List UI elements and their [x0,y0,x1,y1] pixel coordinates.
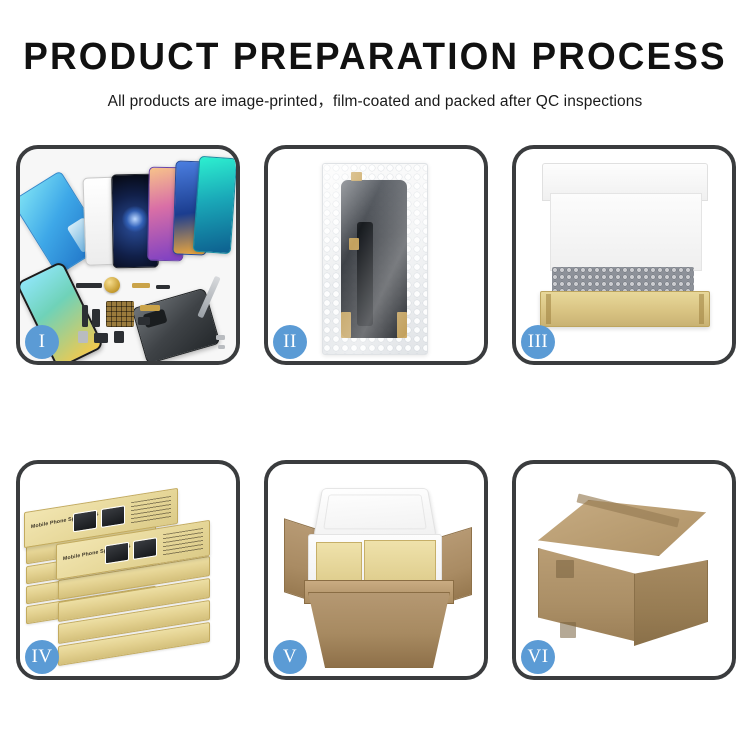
process-step-panel-3[interactable]: III [512,145,736,365]
foam-box-lid [313,488,437,538]
step-badge-3: III [521,325,555,359]
small-part-2 [132,283,150,288]
small-part-6 [140,305,160,311]
small-part-11 [216,335,225,340]
box-window-rear-1 [73,510,97,533]
small-part-8 [78,331,88,343]
process-step-panel-5[interactable]: V [264,460,488,680]
box-spec-lines-rear [131,496,171,524]
logic-board-chip [106,301,134,327]
process-step-panel-1[interactable]: I [16,145,240,365]
white-foam-sheet [550,193,702,271]
carton-side-face [634,560,708,646]
carton-body [308,592,450,668]
step-badge-6: VI [521,640,555,674]
box-window-rear-2 [101,505,125,528]
page-header: PRODUCT PREPARATION PROCESS All products… [0,0,750,111]
small-part-3 [156,285,170,289]
carton-tab-lower [560,622,576,638]
process-step-panel-2[interactable]: II [264,145,488,365]
box-window-front-1 [105,542,129,565]
small-part-1 [76,283,102,288]
step-badge-2: II [273,325,307,359]
kraft-box-tray [540,291,710,327]
small-part-4 [82,305,88,327]
process-step-panel-4[interactable]: Mobile Phone Spare Parts Mobile Phone Sp… [16,460,240,680]
small-part-9 [94,333,108,343]
carton-tab-upper [556,560,574,578]
step-badge-1: I [25,325,59,359]
small-part-5 [92,309,100,327]
process-step-panel-6[interactable]: VI [512,460,736,680]
page-title: PRODUCT PREPARATION PROCESS [11,38,739,76]
process-step-grid: I II III [16,145,735,680]
small-part-7 [138,317,150,325]
small-part-12 [218,345,225,349]
box-spec-lines-front [163,528,203,556]
small-part-10 [114,331,124,343]
box-window-front-2 [133,537,157,560]
phone-screen-teal [193,156,236,254]
step-badge-4: IV [25,640,59,674]
page-subtitle: All products are image-printed，film-coat… [0,89,750,111]
carton-front-face [538,548,638,642]
vibration-motor [104,277,120,293]
step-badge-5: V [273,640,307,674]
bag-gloss-highlight [323,164,427,354]
bubble-wrap-bag [322,163,428,355]
